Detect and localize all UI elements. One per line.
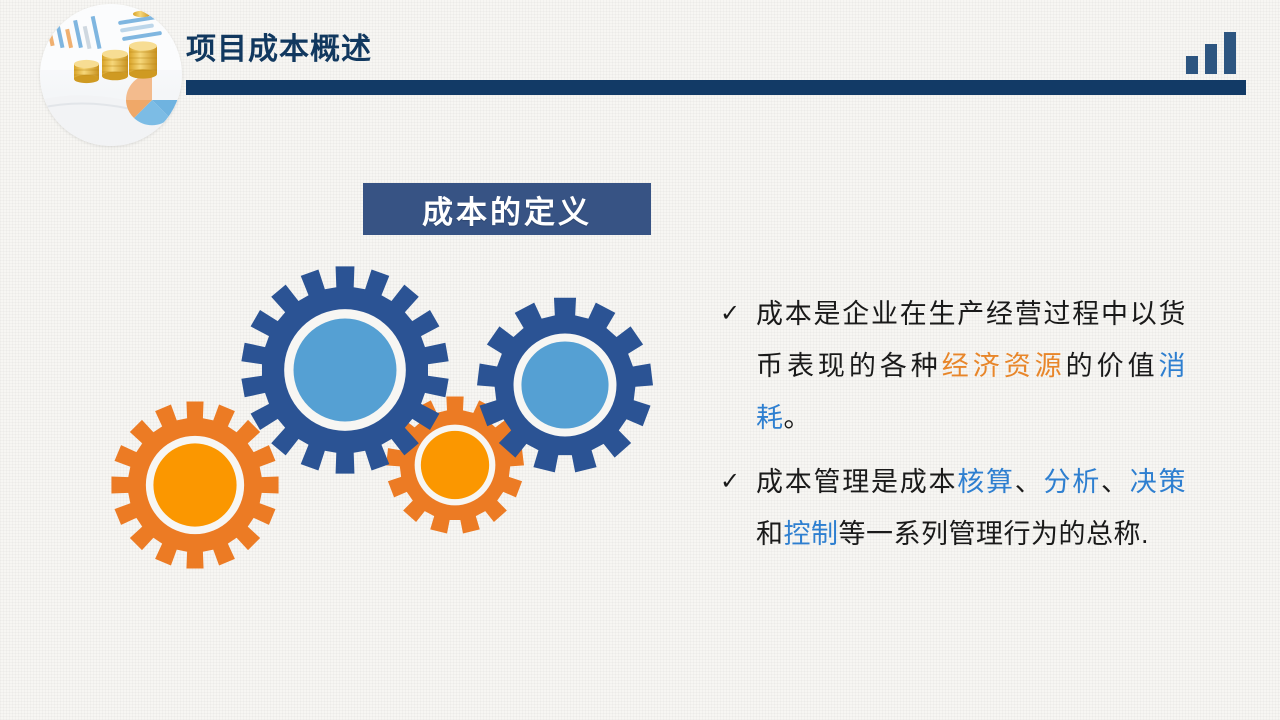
gear-large-orange-hub	[153, 443, 236, 526]
gear-large-blue-hub	[294, 319, 397, 422]
text-segment: 和	[756, 519, 784, 549]
gears-svg	[80, 260, 710, 600]
decor-bar-3	[1224, 32, 1236, 74]
gear-large-blue	[241, 266, 448, 473]
gear-small-blue	[477, 298, 653, 473]
decor-bar-1	[1186, 56, 1198, 74]
text-segment: 经济资源	[942, 351, 1066, 381]
check-icon: ✓	[716, 288, 756, 340]
gear-small-blue-hub	[521, 341, 608, 428]
bullet-list: ✓ 成本是企业在生产经营过程中以货币表现的各种经济资源的价值消耗。 ✓ 成本管理…	[716, 288, 1186, 572]
header-photo	[40, 4, 182, 146]
page-title: 项目成本概述	[186, 24, 372, 68]
check-icon: ✓	[716, 456, 756, 508]
gear-small-orange-hub	[421, 431, 489, 499]
text-segment: 核算	[957, 467, 1015, 497]
bar-chart-icon	[1186, 26, 1244, 74]
text-segment: 控制	[784, 519, 839, 549]
text-segment: 、	[1015, 467, 1044, 497]
slide-canvas: 项目成本概述 成本的定义 ✓ 成本是企业在生产经营过程中以货币表现的各种经济资源…	[0, 0, 1280, 720]
bullet-text-2: 成本管理是成本核算、分析、决策和控制等一系列管理行为的总称.	[756, 456, 1186, 560]
text-segment: 成本管理是成本	[756, 467, 957, 497]
text-segment: 的价值	[1066, 351, 1159, 381]
gear-large-orange	[111, 401, 278, 568]
list-item: ✓ 成本管理是成本核算、分析、决策和控制等一系列管理行为的总称.	[716, 456, 1186, 560]
section-title-label: 成本的定义	[422, 187, 592, 232]
decor-bar-2	[1205, 44, 1217, 74]
text-segment: 、	[1101, 467, 1130, 497]
text-segment: 决策	[1130, 467, 1186, 497]
gears-illustration	[80, 260, 710, 600]
finance-photo-icon	[40, 4, 182, 146]
list-item: ✓ 成本是企业在生产经营过程中以货币表现的各种经济资源的价值消耗。	[716, 288, 1186, 444]
text-segment: 。	[784, 403, 812, 433]
bullet-text-1: 成本是企业在生产经营过程中以货币表现的各种经济资源的价值消耗。	[756, 288, 1186, 444]
section-title-box: 成本的定义	[363, 183, 651, 235]
text-segment: 分析	[1044, 467, 1102, 497]
header-rule	[186, 80, 1246, 95]
text-segment: 等一系列管理行为的总称.	[839, 519, 1150, 549]
